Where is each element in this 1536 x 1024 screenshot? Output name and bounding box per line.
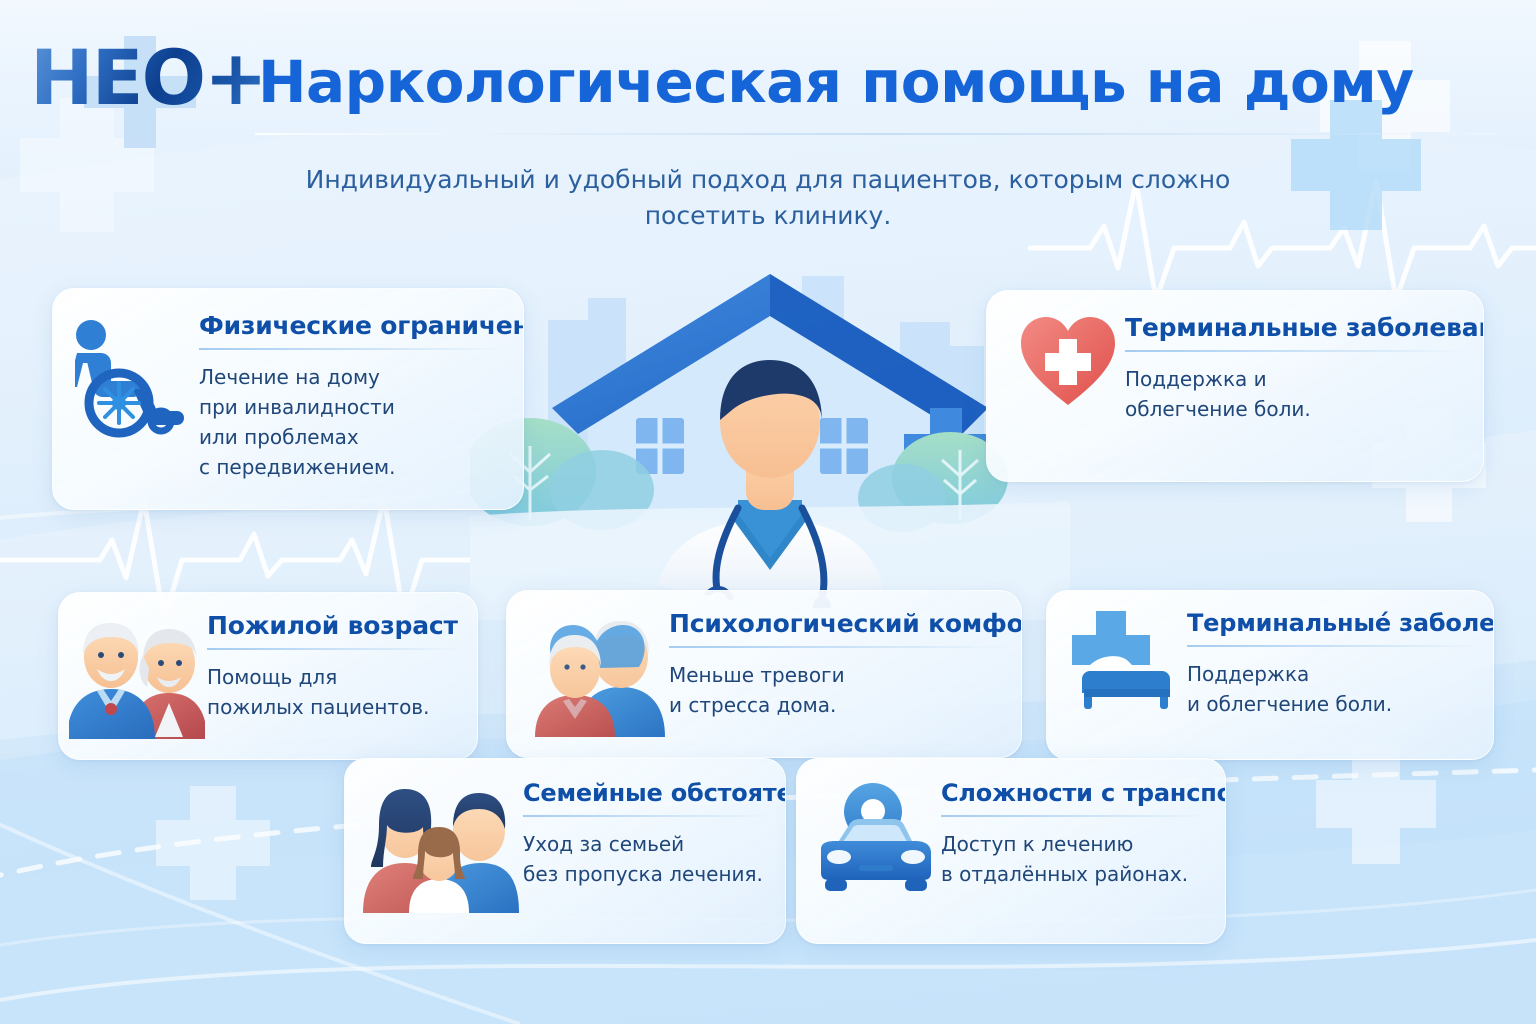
card-divider	[941, 815, 1211, 817]
wheelchair-icon	[67, 311, 199, 439]
card-title: Семейные обстоятельства	[523, 779, 771, 807]
card-terminal-illness-top[interactable]: Терминальные заболевания Поддержка и обл…	[986, 290, 1484, 482]
card-description: Поддержка и облегчение боли.	[1125, 364, 1465, 424]
card-divider	[1187, 645, 1479, 647]
card-description: Помощь для пожилых пациентов.	[207, 662, 461, 722]
card-elderly-age[interactable]: Пожилой возраст Помощь для пожилых пацие…	[58, 592, 478, 760]
elderly-couple-icon	[67, 611, 207, 741]
medical-cross-icon	[156, 786, 270, 900]
brand-logo[interactable]: HEO+	[22, 38, 262, 118]
page-header: HEO+ Наркологическая помощь на дому Инди…	[0, 0, 1536, 250]
hospital-bed-with-cross-icon	[1065, 609, 1187, 715]
card-description: Доступ к лечению в отдалённых районах.	[941, 829, 1211, 889]
page-title: Наркологическая помощь на дому	[258, 48, 1414, 116]
card-title: Физические ограничения	[199, 311, 505, 340]
card-body: Пожилой возраст Помощь для пожилых пацие…	[207, 611, 461, 722]
card-body: Терминальные заболевания Поддержка и обл…	[1125, 313, 1465, 424]
card-body: Сложности с транспортом Доступ к лечению…	[941, 779, 1211, 889]
card-divider	[207, 648, 461, 650]
family-icon	[357, 779, 523, 915]
card-title: Пожилой возраст	[207, 611, 461, 640]
logo-text: HEO+	[30, 40, 266, 116]
card-divider	[669, 646, 1005, 648]
central-illustration	[470, 250, 1070, 620]
card-divider	[523, 815, 771, 817]
heart-with-cross-icon	[1011, 313, 1125, 409]
card-physical-limitations[interactable]: Физические ограничения Лечение на дому п…	[52, 288, 524, 510]
card-psychological-comfort[interactable]: Психологический комфорт Меньше тревоги и…	[506, 590, 1022, 758]
page-subtitle: Индивидуальный и удобный подход для паци…	[268, 162, 1268, 234]
card-terminal-illness-mid[interactable]: Терминальные́ заболевания Поддержка и об…	[1046, 590, 1494, 760]
card-description: Лечение на дому при инвалидности или про…	[199, 362, 505, 482]
medical-cross-icon	[1316, 744, 1436, 864]
subtitle-line-2: посетить клинику.	[268, 198, 1268, 234]
card-body: Семейные обстоятельства Уход за семьей б…	[523, 779, 771, 889]
two-people-icon	[531, 609, 669, 739]
subtitle-line-1: Индивидуальный и удобный подход для паци…	[268, 162, 1268, 198]
card-transport-difficulties[interactable]: Сложности с транспортом Доступ к лечению…	[796, 758, 1226, 944]
card-description: Уход за семьей без пропуска лечения.	[523, 829, 771, 889]
infographic-canvas: HEO+ Наркологическая помощь на дому Инди…	[0, 0, 1536, 1024]
card-divider	[199, 348, 505, 350]
title-divider	[255, 133, 1500, 135]
card-title: Сложности с транспортом	[941, 779, 1211, 807]
card-title: Психологический комфорт	[669, 609, 1005, 638]
card-body: Психологический комфорт Меньше тревоги и…	[669, 609, 1005, 720]
card-family-circumstances[interactable]: Семейные обстоятельства Уход за семьей б…	[344, 758, 786, 944]
card-body: Терминальные́ заболевания Поддержка и об…	[1187, 609, 1479, 719]
card-body: Физические ограничения Лечение на дому п…	[199, 311, 505, 482]
card-title: Терминальные заболевания	[1125, 313, 1465, 342]
car-with-location-pin-icon	[811, 779, 941, 903]
card-description: Поддержка и облегчение боли.	[1187, 659, 1479, 719]
card-title: Терминальные́ заболевания	[1187, 609, 1479, 637]
card-description: Меньше тревоги и стресса дома.	[669, 660, 1005, 720]
card-divider	[1125, 350, 1465, 352]
